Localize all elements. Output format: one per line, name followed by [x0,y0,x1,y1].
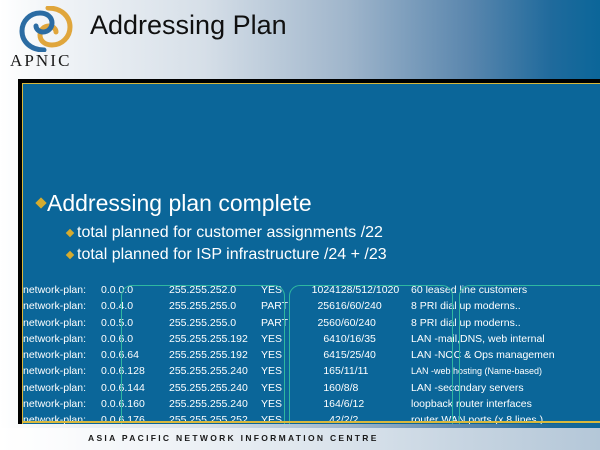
cell-status: YES [261,396,305,412]
diamond-bullet-icon [35,197,46,208]
cell-label: network-plan: [23,331,101,347]
cell-network: 0.0.4.0 [101,298,169,314]
apnic-swirl-logo-icon [18,6,74,52]
cell-netmask: 255.255.252.0 [169,282,261,298]
table-row: network-plan:0.0.6.0255.255.255.192YES64… [23,331,555,347]
page-title: Addressing Plan [90,10,287,41]
cell-status: YES [261,331,305,347]
cell-label: network-plan: [23,347,101,363]
footer-label: ASIA PACIFIC NETWORK INFORMATION CENTRE [88,433,379,443]
content-panel: Addressing plan complete total planned f… [23,84,600,424]
cell-description: 8 PRI dial up moderns.. [411,298,555,314]
cell-network: 0.0.6.64 [101,347,169,363]
cell-ratio: 16/60/240 [335,298,411,314]
cell-netmask: 255.255.255.240 [169,363,261,379]
cell-count: 64 [305,347,335,363]
cell-netmask: 255.255.255.0 [169,315,261,331]
cell-network: 0.0.6.160 [101,396,169,412]
cell-label: network-plan: [23,380,101,396]
cell-ratio: 0/8/8 [335,380,411,396]
cell-status: YES [261,282,305,298]
cell-count: 256 [305,315,335,331]
cell-description: 60 leased line customers [411,282,555,298]
cell-ratio: 128/512/1020 [335,282,411,298]
cell-description: LAN -NOC & Ops managemen [411,347,555,363]
apnic-logo: APNIC [10,6,88,72]
cell-status: YES [261,347,305,363]
diamond-bullet-icon [66,251,74,259]
cell-label: network-plan: [23,315,101,331]
cell-netmask: 255.255.255.192 [169,331,261,347]
bullet-sub-2: total planned for ISP infrastructure /24… [67,245,387,264]
table-row: network-plan:0.0.6.128255.255.255.240YES… [23,363,555,379]
table-row: network-plan:0.0.6.64255.255.255.192YES6… [23,347,555,363]
bullet-main-label: Addressing plan complete [47,190,312,216]
cell-netmask: 255.255.255.192 [169,347,261,363]
network-plan-table-body: network-plan:0.0.0.0255.255.252.0YES1024… [23,282,555,424]
network-plan-table-area: network-plan:0.0.0.0255.255.252.0YES1024… [23,282,600,424]
cell-network: 0.0.0.0 [101,282,169,298]
bullet-sub-1: total planned for customer assignments /… [67,223,383,242]
cell-status: YES [261,363,305,379]
cell-description: loopback router interfaces [411,396,555,412]
table-row: network-plan:0.0.5.0255.255.255.0PART256… [23,315,555,331]
table-row: network-plan:0.0.6.160255.255.255.240YES… [23,396,555,412]
cell-count: 16 [305,363,335,379]
network-plan-table: network-plan:0.0.0.0255.255.252.0YES1024… [23,282,555,424]
apnic-wordmark: APNIC [10,52,88,70]
cell-ratio: 4/6/12 [335,396,411,412]
cell-netmask: 255.255.255.240 [169,396,261,412]
table-row: network-plan:0.0.6.144255.255.255.240YES… [23,380,555,396]
cell-count: 64 [305,331,335,347]
bullet-sub-1-label: total planned for customer assignments /… [77,223,383,242]
cell-ratio: 10/16/35 [335,331,411,347]
diamond-bullet-icon [66,229,74,237]
table-row: network-plan:0.0.0.0255.255.252.0YES1024… [23,282,555,298]
cell-netmask: 255.255.255.240 [169,380,261,396]
content-panel-bottom-accent [23,421,600,423]
cell-count: 16 [305,380,335,396]
cell-count: 1024 [305,282,335,298]
cell-count: 256 [305,298,335,314]
cell-ratio: 5/11/11 [335,363,411,379]
cell-label: network-plan: [23,282,101,298]
cell-description: LAN -web hosting (Name-based) [411,363,555,379]
cell-label: network-plan: [23,298,101,314]
cell-count: 16 [305,396,335,412]
cell-network: 0.0.6.144 [101,380,169,396]
bullet-sub-2-label: total planned for ISP infrastructure /24… [77,245,387,264]
cell-netmask: 255.255.255.0 [169,298,261,314]
cell-description: LAN -mail,DNS, web internal [411,331,555,347]
cell-description: LAN -secondary servers [411,380,555,396]
cell-status: PART [261,315,305,331]
cell-status: PART [261,298,305,314]
slide-header: APNIC Addressing Plan [0,0,600,78]
cell-ratio: 15/25/40 [335,347,411,363]
cell-ratio: 0/60/240 [335,315,411,331]
bullet-main: Addressing plan complete [37,190,312,216]
table-row: network-plan:0.0.4.0255.255.255.0PART256… [23,298,555,314]
cell-label: network-plan: [23,396,101,412]
cell-network: 0.0.5.0 [101,315,169,331]
slide: APNIC Addressing Plan Addressing plan co… [0,0,600,450]
cell-network: 0.0.6.0 [101,331,169,347]
cell-label: network-plan: [23,363,101,379]
cell-description: 8 PRI dial up moderns.. [411,315,555,331]
cell-status: YES [261,380,305,396]
cell-network: 0.0.6.128 [101,363,169,379]
